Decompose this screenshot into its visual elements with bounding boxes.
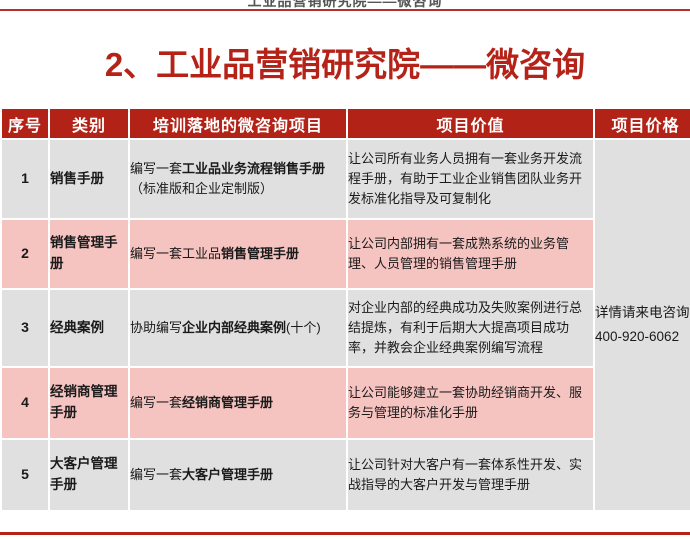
cell-num: 1 [2,140,48,218]
cell-item: 编写一套大客户管理手册 [130,440,346,510]
page-title: 2、工业品营销研究院——微咨询 [105,38,585,86]
cell-num: 3 [2,290,48,366]
top-banner-text: 工业品营销研究院——微咨询 [0,0,690,9]
table-row: 4 经销商管理手册 编写一套经销商管理手册 让公司能够建立一套协助经销商开发、服… [2,368,690,438]
cell-category: 销售管理手册 [50,220,128,288]
table-row: 5 大客户管理手册 编写一套大客户管理手册 让公司针对大客户有一套体系性开发、实… [2,440,690,510]
item-text-bold: 经销商管理手册 [182,395,273,410]
item-text-plain-a: 编写一套 [130,467,182,482]
cell-num: 5 [2,440,48,510]
table-row: 2 销售管理手册 编写一套工业品销售管理手册 让公司内部拥有一套成熟系统的业务管… [2,220,690,288]
cell-num: 2 [2,220,48,288]
item-text-plain-a: 协助编写 [130,320,182,335]
price-line-1: 详情请来电咨询 [595,301,690,325]
price-line-2: 400-920-6062 [595,325,690,349]
top-banner: 工业品营销研究院——微咨询 [0,0,690,9]
item-text-bold: 大客户管理手册 [182,467,273,482]
table-body: 1 销售手册 编写一套工业品业务流程销售手册（标准版和企业定制版） 让公司所有业… [2,140,690,510]
item-text-plain-a: 编写一套 [130,161,182,176]
item-text-plain-a: 编写一套工业品 [130,246,221,261]
cell-item: 编写一套经销商管理手册 [130,368,346,438]
cell-category: 经典案例 [50,290,128,366]
cell-category: 大客户管理手册 [50,440,128,510]
cell-category: 经销商管理手册 [50,368,128,438]
title-area: 2、工业品营销研究院——微咨询 [0,11,690,107]
microconsulting-table-wrapper: 序号 类别 培训落地的微咨询项目 项目价值 项目价格 1 销售手册 编写一套工业… [0,107,690,535]
table-header-row: 序号 类别 培训落地的微咨询项目 项目价值 项目价格 [2,109,690,138]
item-text-plain-a: 编写一套 [130,395,182,410]
item-text-bold: 销售管理手册 [221,246,299,261]
cell-category: 销售手册 [50,140,128,218]
cell-value: 对企业内部的经典成功及失败案例进行总结提炼，有利于后期大大提高项目成功率，并教会… [348,290,593,366]
table-row: 3 经典案例 协助编写企业内部经典案例(十个) 对企业内部的经典成功及失败案例进… [2,290,690,366]
item-text-plain-b: （标准版和企业定制版） [130,181,273,196]
table-header: 序号 类别 培训落地的微咨询项目 项目价值 项目价格 [2,109,690,138]
cell-item: 编写一套工业品销售管理手册 [130,220,346,288]
cell-item: 编写一套工业品业务流程销售手册（标准版和企业定制版） [130,140,346,218]
column-header-category: 类别 [50,109,128,138]
column-header-num: 序号 [2,109,48,138]
cell-item: 协助编写企业内部经典案例(十个) [130,290,346,366]
cell-value: 让公司所有业务人员拥有一套业务开发流程手册，有助于工业企业销售团队业务开发标准化… [348,140,593,218]
item-text-bold: 工业品业务流程销售手册 [182,161,325,176]
column-header-value: 项目价值 [348,109,593,138]
cell-value: 让公司能够建立一套协助经销商开发、服务与管理的标准化手册 [348,368,593,438]
cell-price: 详情请来电咨询 400-920-6062 [595,140,690,510]
cell-num: 4 [2,368,48,438]
table-row: 1 销售手册 编写一套工业品业务流程销售手册（标准版和企业定制版） 让公司所有业… [2,140,690,218]
cell-value: 让公司内部拥有一套成熟系统的业务管理、人员管理的销售管理手册 [348,220,593,288]
microconsulting-table: 序号 类别 培训落地的微咨询项目 项目价值 项目价格 1 销售手册 编写一套工业… [0,107,690,512]
column-header-price: 项目价格 [595,109,690,138]
cell-value: 让公司针对大客户有一套体系性开发、实战指导的大客户开发与管理手册 [348,440,593,510]
item-text-plain-b: (十个) [286,320,321,335]
column-header-item: 培训落地的微咨询项目 [130,109,346,138]
item-text-bold: 企业内部经典案例 [182,320,286,335]
